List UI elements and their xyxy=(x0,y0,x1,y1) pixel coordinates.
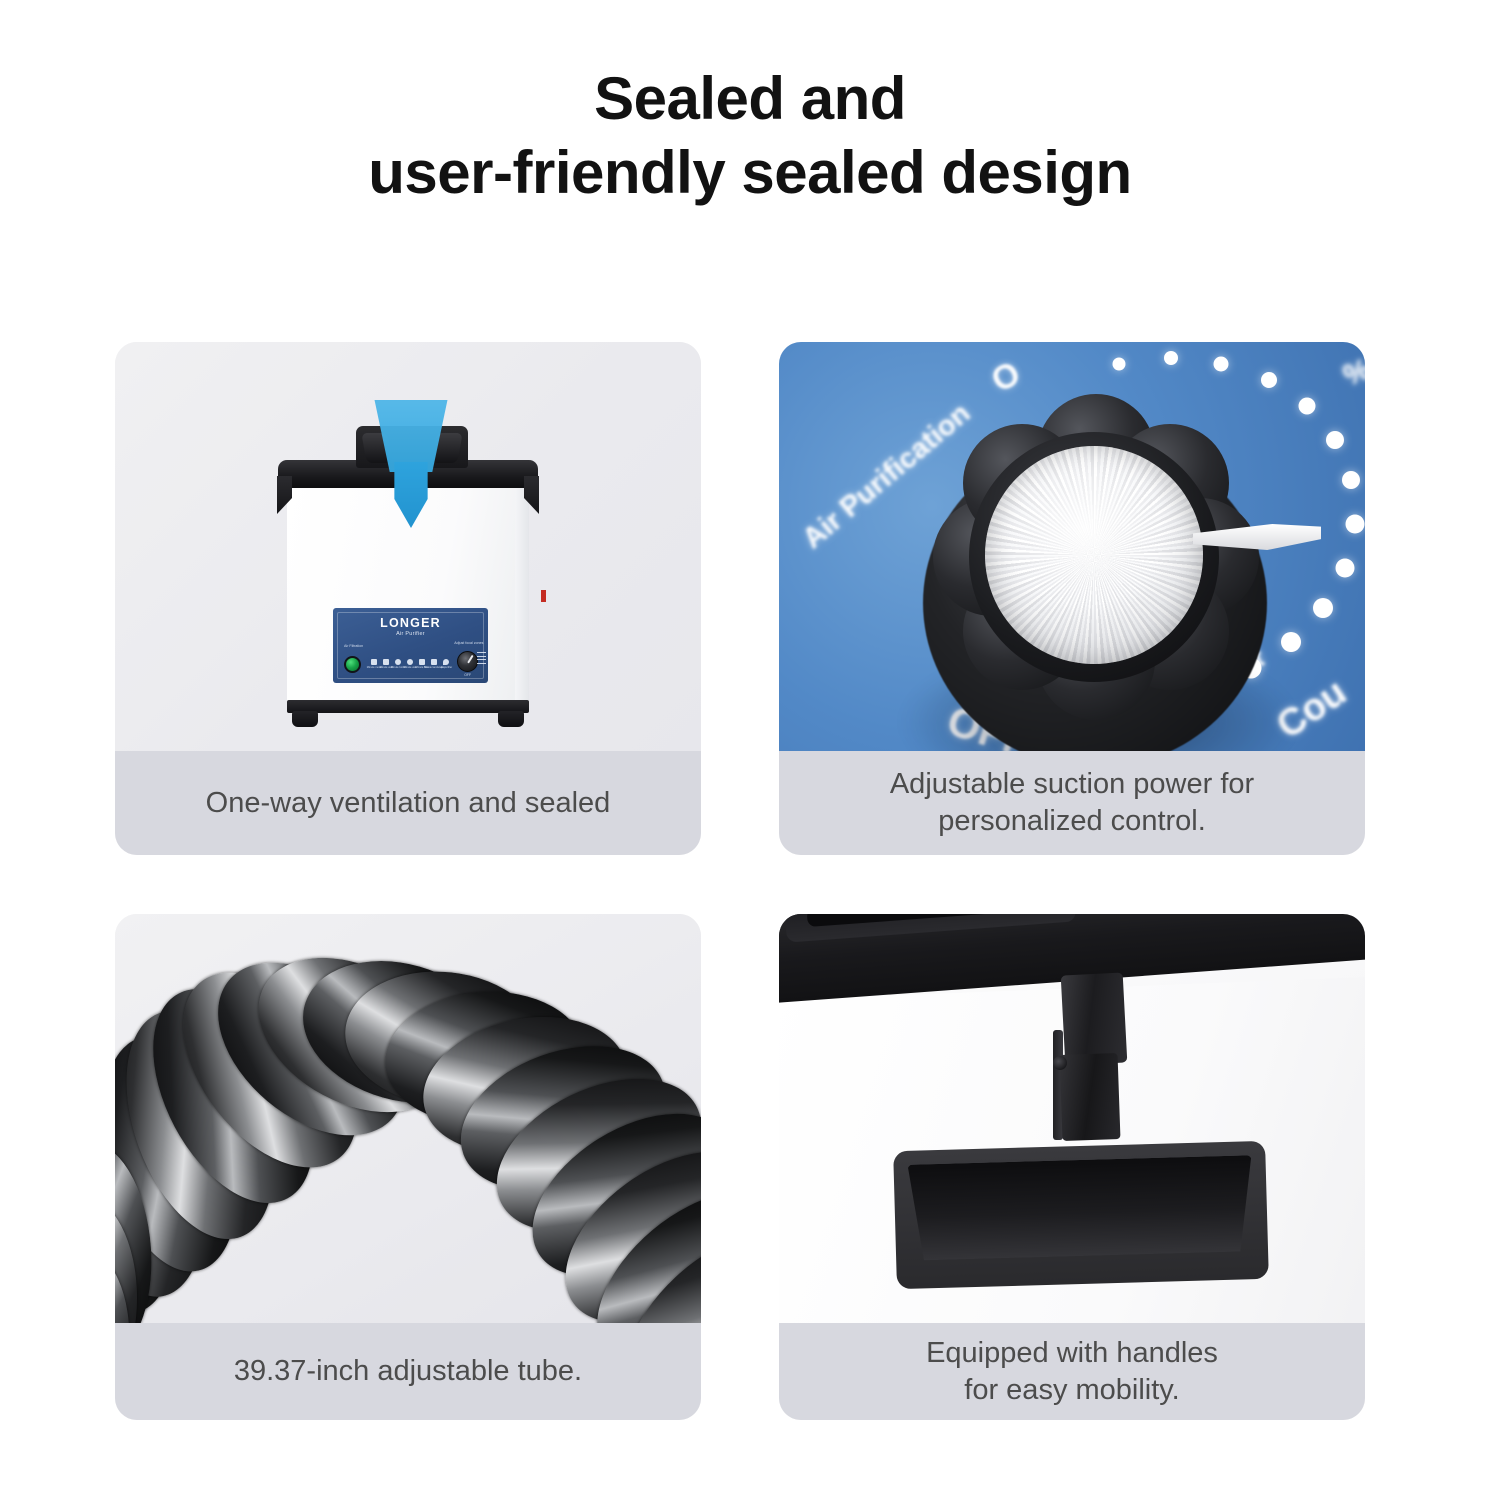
panel-control-row: Air Filtration Minute mode xyxy=(344,648,479,678)
caption-line: Adjustable suction power for xyxy=(890,766,1254,803)
card-media-handle xyxy=(779,914,1365,1323)
power-control-group: Air Filtration xyxy=(344,653,363,673)
feature-card-adjustable-tube: 39.37-inch adjustable tube. xyxy=(115,914,701,1420)
caption-line: personalized control. xyxy=(938,803,1206,840)
indicator-icon-3: Minute bottle xyxy=(392,659,404,670)
tick-mark xyxy=(477,659,486,660)
tick-mark xyxy=(477,663,486,664)
scale-dot xyxy=(1164,351,1178,365)
scale-dot xyxy=(1214,357,1229,372)
knob-off-label: OFF xyxy=(456,673,479,677)
caption-line: 39.37-inch adjustable tube. xyxy=(234,1353,582,1390)
air-purifier-icon xyxy=(443,659,449,665)
indicator-icon-1: Minute mode xyxy=(368,659,380,670)
tick-mark xyxy=(477,656,486,657)
card-media-air-purifier-unit: LONGER Air Purifier Air Filtration Minut xyxy=(115,342,701,751)
product-subtitle: Air Purifier xyxy=(340,630,481,638)
scale-dot xyxy=(1346,515,1365,534)
downward-airflow-arrow-icon xyxy=(373,400,449,530)
corrugated-flexible-tube xyxy=(115,914,701,1323)
knob-closeup-scene: Air Purification O OFF Cou t % xyxy=(779,342,1365,751)
air-purifier-unit: LONGER Air Purifier Air Filtration Minut xyxy=(278,408,538,748)
scale-dot xyxy=(1299,398,1316,415)
panel-scale-ticks xyxy=(477,652,486,664)
wait-icon xyxy=(383,659,389,665)
knob-brushed-metal-cap xyxy=(985,446,1203,664)
scale-dot xyxy=(1336,559,1355,578)
caption-line: One-way ventilation and sealed xyxy=(206,785,611,822)
feature-card-one-way-ventilation: LONGER Air Purifier Air Filtration Minut xyxy=(115,342,701,855)
page-title: Sealed and user-friendly sealed design xyxy=(0,62,1500,210)
indicator-icon-4: Minute wait xyxy=(404,659,416,670)
card-media-suction-knob: Air Purification O OFF Cou t % xyxy=(779,342,1365,751)
scale-dot xyxy=(1326,431,1344,449)
scale-dot xyxy=(1342,471,1360,489)
landscape-icon xyxy=(431,659,437,665)
page-title-line-1: Sealed and xyxy=(0,62,1500,136)
card-caption-adjustable-tube: 39.37-inch adjustable tube. xyxy=(115,1323,701,1420)
card-caption-one-way-ventilation: One-way ventilation and sealed xyxy=(115,751,701,855)
unit-side-panel xyxy=(515,482,529,704)
page-title-line-2: user-friendly sealed design xyxy=(0,136,1500,210)
infographic-page: Sealed and user-friendly sealed design xyxy=(0,0,1500,1500)
mode-icon xyxy=(371,659,377,665)
control-panel: LONGER Air Purifier Air Filtration Minut xyxy=(333,608,488,683)
knob-label: Adjust focal zones xyxy=(454,641,483,645)
indicator-icon-7: Air purifier xyxy=(440,659,452,670)
recessed-handle-scene xyxy=(779,914,1365,1323)
panel-knob-group: Adjust focal zones OFF xyxy=(456,650,479,677)
unit-base xyxy=(287,700,529,713)
feature-card-adjustable-suction: Air Purification O OFF Cou t % xyxy=(779,342,1365,855)
latch-strap xyxy=(1061,972,1128,1065)
suction-knob[interactable] xyxy=(457,651,478,672)
scale-dot xyxy=(1113,358,1126,371)
caption-line: Equipped with handles xyxy=(926,1335,1218,1372)
filter-icon xyxy=(419,659,425,665)
unit-foot-left xyxy=(292,711,318,727)
feature-card-grid: LONGER Air Purifier Air Filtration Minut xyxy=(115,342,1365,1420)
wait-icon xyxy=(407,659,413,665)
power-button-label: Air Filtration xyxy=(344,644,363,648)
recessed-side-handle[interactable] xyxy=(893,1141,1269,1289)
latch-pivot-pin xyxy=(1053,1056,1067,1070)
bottle-icon xyxy=(395,659,401,665)
power-button[interactable] xyxy=(344,656,361,673)
card-caption-handles: Equipped with handles for easy mobility. xyxy=(779,1323,1365,1420)
airflow-beam xyxy=(373,400,449,472)
card-caption-adjustable-suction: Adjustable suction power for personalize… xyxy=(779,751,1365,855)
indicator-label: Air purifier xyxy=(440,666,452,669)
card-media-flexible-tube xyxy=(115,914,701,1323)
latch-lower-arm xyxy=(1060,1053,1121,1141)
red-accent-mark xyxy=(541,590,546,602)
feature-card-handles: Equipped with handles for easy mobility. xyxy=(779,914,1365,1420)
caption-line: for easy mobility. xyxy=(964,1372,1179,1409)
indicator-icon-row: Minute mode Minute wait Minute bottle xyxy=(363,659,456,670)
indicator-icon-6: Minute landscape xyxy=(428,659,440,670)
latch-clasp[interactable] xyxy=(1053,974,1121,1070)
scale-dot xyxy=(1313,598,1333,618)
unit-foot-right xyxy=(498,711,524,727)
tick-mark xyxy=(477,652,486,653)
brand-label: LONGER xyxy=(340,616,481,630)
suction-power-knob[interactable] xyxy=(915,380,1275,740)
